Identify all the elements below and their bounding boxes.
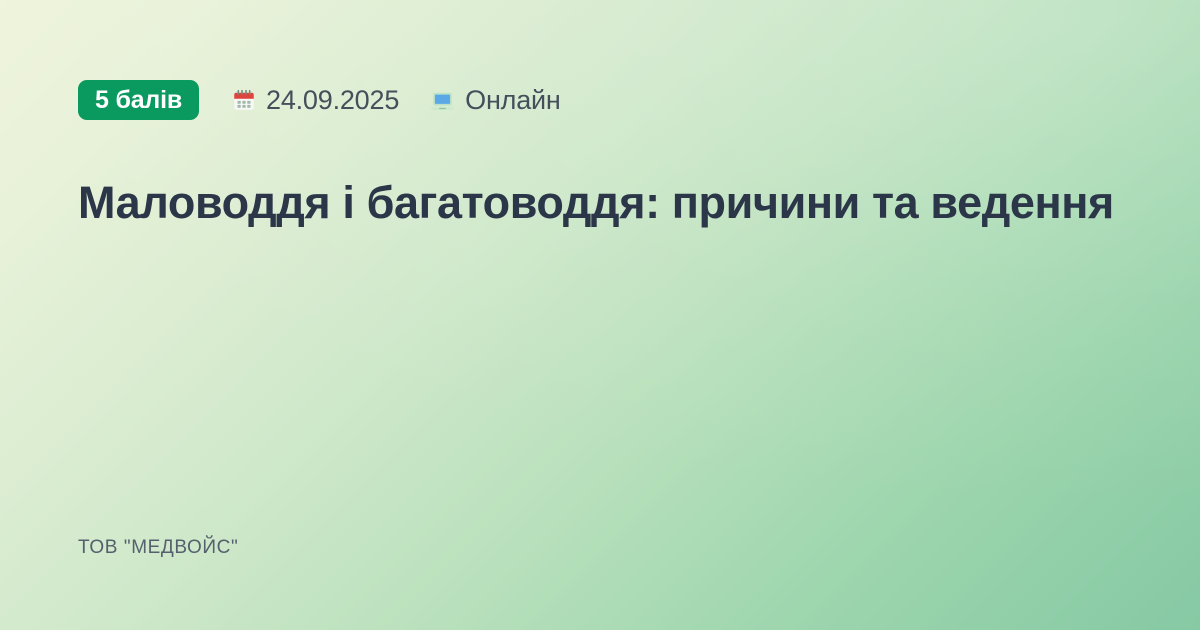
event-meta-row: 5 балів	[78, 78, 1120, 122]
page-title: Маловоддя і багатоводдя: причини та веде…	[78, 122, 1120, 233]
calendar-icon	[231, 87, 257, 113]
credit-points-badge: 5 балів	[78, 80, 199, 120]
event-format: Онлайн	[429, 87, 560, 114]
organization-name: ТОВ "МЕДВОЙС"	[78, 538, 238, 557]
event-date: 24.09.2025	[231, 87, 399, 114]
laptop-icon	[429, 87, 456, 114]
event-promo-card: 5 балів	[0, 0, 1200, 630]
event-date-value: 24.09.2025	[266, 87, 399, 114]
event-format-value: Онлайн	[465, 87, 560, 114]
